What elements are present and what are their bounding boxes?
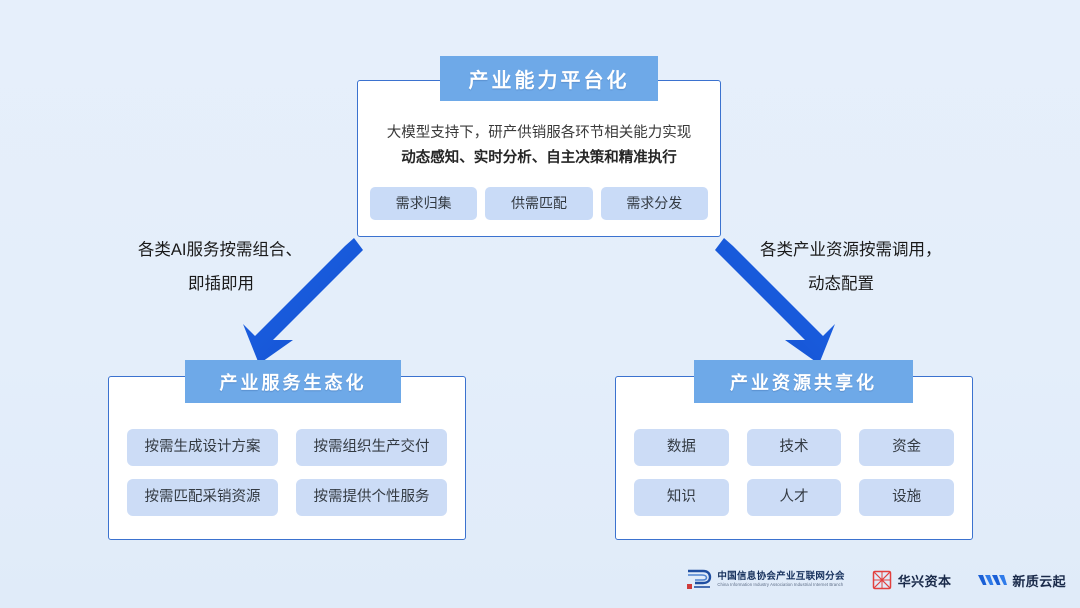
tile-procurement-resource[interactable]: 按需匹配采销资源: [127, 479, 278, 516]
annotation-right-line1: 各类产业资源按需调用，: [760, 241, 942, 259]
logo-xinzhi-yunqi: 新质云起: [977, 570, 1066, 590]
tile-knowledge[interactable]: 知识: [634, 479, 729, 516]
logo-cia-industrial-internet: 中国信息协会产业互联网分会 China Information Industry…: [686, 569, 844, 591]
annotation-left: 各类AI服务按需组合、 即插即用: [122, 233, 302, 301]
chip-demand-distribution[interactable]: 需求分发: [601, 187, 708, 220]
top-card-description-line1: 大模型支持下，研产供销服各环节相关能力实现: [358, 121, 720, 146]
top-card-chip-row: 需求归集 供需匹配 需求分发: [370, 187, 708, 220]
top-card-description-line2: 动态感知、实时分析、自主决策和精准执行: [358, 146, 720, 171]
top-card-title: 产业能力平台化: [440, 56, 658, 101]
tile-technology[interactable]: 技术: [747, 429, 842, 466]
xinzhi-logo-name: 新质云起: [1012, 571, 1066, 590]
annotation-right: 各类产业资源按需调用， 动态配置: [760, 233, 1000, 301]
annotation-left-line2: 即插即用: [122, 267, 302, 301]
tile-production-delivery[interactable]: 按需组织生产交付: [296, 429, 447, 466]
chip-supply-demand-match[interactable]: 供需匹配: [485, 187, 592, 220]
tile-capital[interactable]: 资金: [859, 429, 954, 466]
annotation-right-line2: 动态配置: [760, 267, 1000, 301]
chip-demand-aggregation[interactable]: 需求归集: [370, 187, 477, 220]
slide-canvas: 大模型支持下，研产供销服各环节相关能力实现 动态感知、实时分析、自主决策和精准执…: [0, 0, 1080, 608]
resource-sharing-tile-grid: 数据 技术 资金 知识 人才 设施: [634, 429, 954, 516]
cia-logo-name-en: China Information Industry Association I…: [717, 583, 844, 588]
tile-design-scheme[interactable]: 按需生成设计方案: [127, 429, 278, 466]
cia-industrial-internet-logo-icon: [686, 569, 712, 591]
annotation-left-line1: 各类AI服务按需组合、: [138, 241, 302, 259]
tile-facility[interactable]: 设施: [859, 479, 954, 516]
tile-talent[interactable]: 人才: [747, 479, 842, 516]
tile-data[interactable]: 数据: [634, 429, 729, 466]
service-ecosystem-tile-grid: 按需生成设计方案 按需组织生产交付 按需匹配采销资源 按需提供个性服务: [127, 429, 447, 516]
resource-sharing-card-title: 产业资源共享化: [694, 360, 913, 403]
footer-logo-bar: 中国信息协会产业互联网分会 China Information Industry…: [0, 560, 1066, 600]
xinzhi-yunqi-logo-icon: [977, 570, 1007, 590]
huaxing-capital-logo-icon: [871, 569, 893, 591]
cia-logo-text: 中国信息协会产业互联网分会 China Information Industry…: [717, 572, 844, 588]
service-ecosystem-card-title: 产业服务生态化: [185, 360, 401, 403]
top-card-description: 大模型支持下，研产供销服各环节相关能力实现 动态感知、实时分析、自主决策和精准执…: [358, 121, 720, 171]
tile-personalized-service[interactable]: 按需提供个性服务: [296, 479, 447, 516]
top-capability-card: 大模型支持下，研产供销服各环节相关能力实现 动态感知、实时分析、自主决策和精准执…: [357, 80, 721, 237]
huaxing-logo-name: 华兴资本: [898, 571, 952, 590]
logo-huaxing-capital: 华兴资本: [871, 569, 952, 591]
